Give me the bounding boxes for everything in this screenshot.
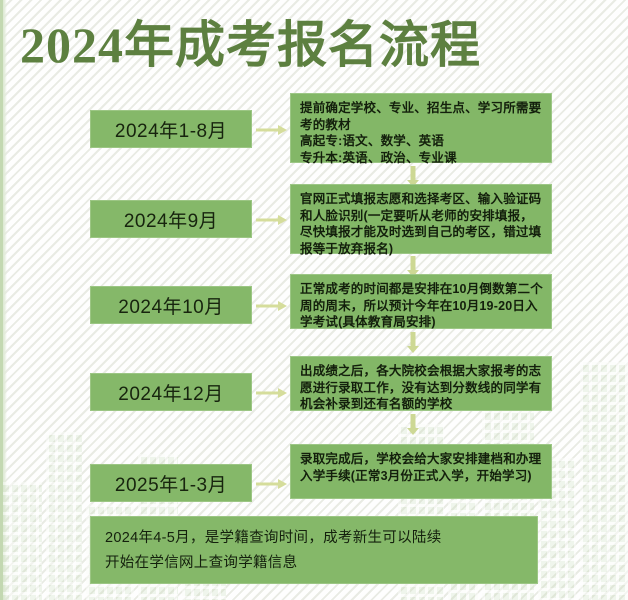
arrow-right-icon [256, 386, 288, 398]
arrow-right-icon [256, 477, 288, 489]
step-label-5: 2025年1-3月 [90, 464, 252, 502]
arrow-right-icon [256, 213, 288, 225]
step-content-2: 官网正式填报志愿和选择考区、输入验证码和人脸识别(一定要听从老师的安排填报，尽快… [290, 184, 552, 254]
footer-note-box: 2024年4-5月，是学籍查询时间，成考新生可以陆续 开始在学信网上查询学籍信息 [90, 516, 538, 584]
process-flow: 2024年1-8月 提前确定学校、专业、招生点、学习所需要考的教材 高起专:语文… [0, 92, 628, 532]
footer-note-line-2: 开始在学信网上查询学籍信息 [105, 551, 523, 576]
step-content-4: 出成绩之后，各大院校会根据大家报考的志愿进行录取工作，没有达到分数线的同学有机会… [290, 356, 552, 411]
step-label-4: 2024年12月 [90, 373, 252, 411]
step-content-line: 官网正式填报志愿和选择考区、输入验证码和人脸识别(一定要听从老师的安排填报，尽快… [300, 191, 543, 257]
poster-root: 2024年成考报名流程 2024年1-8月 提前确定学校、专业、招生点、学习所需… [0, 0, 628, 600]
page-title: 2024年成考报名流程 [20, 14, 481, 76]
flow-row: 2024年9月 官网正式填报志愿和选择考区、输入验证码和人脸识别(一定要听从老师… [0, 180, 628, 268]
step-label-2: 2024年9月 [90, 200, 252, 238]
arrow-down-icon [406, 332, 420, 354]
flow-row: 2024年10月 正常成考的时间都是安排在10月倒数第二个周的周末，所以预计今年… [0, 268, 628, 356]
step-content-5: 录取完成后，学校会给大家安排建档和办理入学手续(正常3月份正式入学，开始学习) [290, 444, 552, 499]
arrow-right-icon [256, 123, 288, 135]
step-content-line: 出成绩之后，各大院校会根据大家报考的志愿进行录取工作，没有达到分数线的同学有机会… [300, 363, 543, 413]
flow-row: 2024年12月 出成绩之后，各大院校会根据大家报考的志愿进行录取工作，没有达到… [0, 356, 628, 444]
step-content-line: 提前确定学校、专业、招生点、学习所需要考的教材 高起专:语文、数学、英语 专升本… [300, 100, 543, 166]
arrow-down-icon [406, 414, 420, 436]
flow-row: 2024年1-8月 提前确定学校、专业、招生点、学习所需要考的教材 高起专:语文… [0, 92, 628, 180]
step-content-line: 正常成考的时间都是安排在10月倒数第二个周的周末，所以预计今年在10月19-20… [300, 281, 543, 331]
footer-note-line-1: 2024年4-5月，是学籍查询时间，成考新生可以陆续 [105, 526, 523, 551]
step-label-1: 2024年1-8月 [90, 110, 252, 148]
arrow-right-icon [256, 299, 288, 311]
step-content-1: 提前确定学校、专业、招生点、学习所需要考的教材 高起专:语文、数学、英语 专升本… [290, 93, 552, 163]
step-label-3: 2024年10月 [90, 286, 252, 324]
step-content-line: 录取完成后，学校会给大家安排建档和办理入学手续(正常3月份正式入学，开始学习) [300, 451, 543, 484]
step-content-3: 正常成考的时间都是安排在10月倒数第二个周的周末，所以预计今年在10月19-20… [290, 274, 552, 329]
